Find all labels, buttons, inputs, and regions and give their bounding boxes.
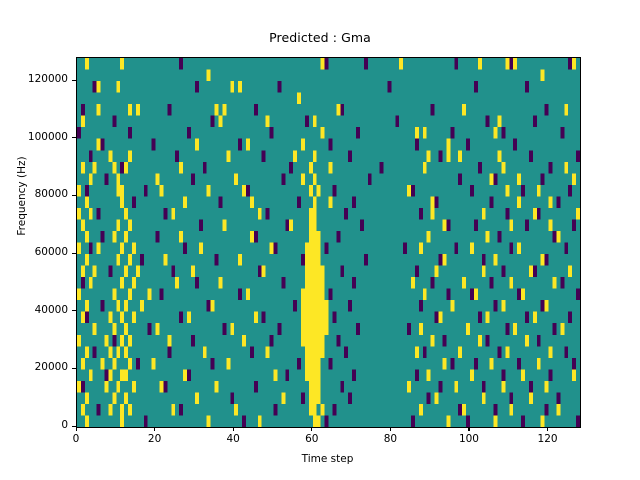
x-tick-label: 40 (203, 433, 263, 445)
x-tick-label: 0 (46, 433, 106, 445)
y-tick-label: 120000 (2, 73, 68, 85)
x-tick-mark (154, 427, 155, 431)
x-tick-mark (311, 427, 312, 431)
y-tick-mark (72, 137, 76, 138)
x-tick-mark (468, 427, 469, 431)
y-tick-mark (72, 310, 76, 311)
x-tick-mark (390, 427, 391, 431)
x-tick-mark (233, 427, 234, 431)
y-tick-label: 80000 (2, 188, 68, 200)
x-axis-label: Time step (76, 453, 579, 465)
x-tick-mark (76, 427, 77, 431)
y-tick-mark (72, 368, 76, 369)
y-tick-label: 40000 (2, 304, 68, 316)
x-tick-label: 100 (439, 433, 499, 445)
y-tick-label: 60000 (2, 246, 68, 258)
x-tick-label: 120 (518, 433, 578, 445)
x-tick-label: 80 (360, 433, 420, 445)
heatmap-image (77, 58, 580, 427)
x-tick-label: 20 (125, 433, 185, 445)
x-tick-label: 60 (282, 433, 342, 445)
y-tick-label: 0 (2, 419, 68, 431)
figure-canvas: Predicted : Gma 020000400006000080000100… (0, 0, 640, 480)
heatmap-axes[interactable] (76, 57, 581, 428)
x-tick-mark (547, 427, 548, 431)
y-tick-mark (72, 80, 76, 81)
y-tick-mark (72, 195, 76, 196)
chart-title: Predicted : Gma (0, 30, 640, 45)
y-axis-label: Frequency (Hz) (16, 86, 28, 306)
y-tick-label: 20000 (2, 361, 68, 373)
y-tick-label: 100000 (2, 131, 68, 143)
y-tick-mark (72, 253, 76, 254)
